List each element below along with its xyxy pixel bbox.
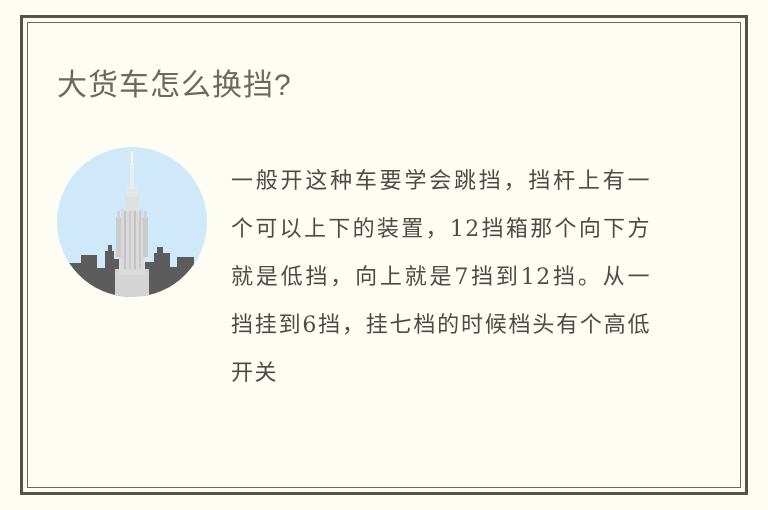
article-page: 大货车怎么换挡? — [0, 0, 768, 510]
article-content: 大货车怎么换挡? — [0, 0, 768, 510]
skyscraper-city-illustration — [57, 147, 207, 297]
page-title: 大货车怎么换挡? — [57, 66, 292, 106]
answer-body-text: 一般开这种车要学会跳挡，挡杆上有一个可以上下的装置，12挡箱那个向下方就是低挡，… — [231, 158, 651, 398]
